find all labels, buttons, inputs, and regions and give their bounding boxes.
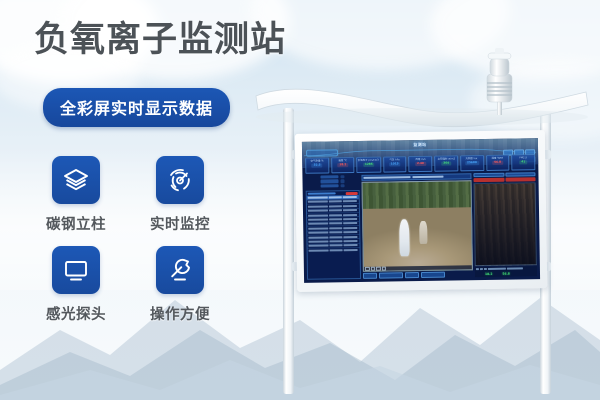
metric-card[interactable]: 光照度 lux 25600: [460, 155, 484, 171]
metric-value: 32.5: [312, 164, 323, 168]
metric-label: 负氧离子 pcs/cm3: [358, 159, 379, 162]
metric-label: 气压 hPa: [390, 158, 400, 161]
feature-item-realtime-monitoring[interactable]: 实时监控: [150, 156, 210, 234]
live-video-feed[interactable]: [362, 180, 473, 272]
outdoor-display: 监测站 空气质量 % 32.5 温度 ℃ 18.2: [295, 130, 547, 292]
monitor-screen-icon: [52, 246, 100, 294]
feature-label: 操作方便: [150, 303, 210, 324]
footer-controls[interactable]: [475, 266, 537, 271]
right-footer: 18.2 56.8: [475, 266, 537, 277]
snapshot-icon[interactable]: [376, 266, 381, 271]
channel-select[interactable]: [379, 272, 403, 278]
feature-item-light-sensor[interactable]: 感光探头: [46, 246, 106, 324]
metric-label: 风速 m/s: [415, 158, 425, 161]
metric-card[interactable]: 气压 hPa 1013: [383, 156, 407, 172]
toolbar-label: [363, 273, 377, 279]
footer-label: [507, 267, 523, 269]
summary-row: [321, 180, 345, 184]
metric-value: 41: [519, 161, 527, 165]
metric-label: 湿度 %RH: [492, 157, 504, 160]
feature-label: 碳钢立柱: [46, 213, 106, 234]
metric-value: 56.8: [492, 161, 503, 165]
tab-records[interactable]: [505, 172, 536, 176]
metric-card-row: 空气质量 % 32.5 温度 ℃ 18.2 负氧离子 pcs/cm3 1286 …: [305, 154, 535, 174]
metric-label: 空气质量 %: [311, 160, 324, 163]
metric-value: 25600: [465, 161, 479, 165]
toolbar-label: [405, 272, 419, 278]
fullscreen-icon[interactable]: [381, 266, 386, 271]
alert-badge[interactable]: [473, 178, 504, 182]
metric-value: 1013: [389, 163, 401, 167]
dashboard-body: 18.2 56.8: [305, 172, 537, 280]
dashboard-screen[interactable]: 监测站 空气质量 % 32.5 温度 ℃ 18.2: [302, 138, 540, 283]
metric-value: 364: [441, 162, 451, 166]
metric-value: 2.40: [415, 162, 426, 166]
video-person: [399, 219, 410, 256]
weather-sensor-icon: [487, 48, 512, 115]
preset-select[interactable]: [421, 272, 445, 278]
radar-monitor-icon: [156, 156, 204, 204]
table-row[interactable]: [308, 247, 360, 252]
wrench-icon: [156, 246, 204, 294]
left-panel: [305, 175, 361, 280]
metric-card[interactable]: PM2.5 41: [511, 154, 535, 170]
metric-card[interactable]: 空气质量 % 32.5: [305, 157, 329, 173]
feature-item-easy-operation[interactable]: 操作方便: [150, 246, 210, 324]
feature-label: 感光探头: [46, 303, 106, 324]
metric-label: 光照度 lux: [466, 157, 478, 160]
metric-card[interactable]: 太阳辐射 w/m2 364: [434, 155, 458, 171]
metric-value: 18.2: [337, 163, 348, 167]
pause-icon[interactable]: [370, 266, 375, 271]
alert-badge[interactable]: [505, 177, 536, 181]
footer-label: [488, 268, 506, 270]
video-treeline: [363, 181, 471, 209]
data-table[interactable]: [306, 190, 361, 280]
prev-icon[interactable]: [476, 268, 479, 270]
right-panel: 18.2 56.8: [473, 172, 537, 277]
layers-icon: [52, 156, 100, 204]
metric-label: 温度 ℃: [339, 159, 348, 162]
tab-alerts[interactable]: [473, 173, 504, 177]
feature-label: 实时监控: [150, 213, 210, 234]
page-title: 负氧离子监测站: [34, 22, 286, 57]
next-icon[interactable]: [480, 268, 483, 270]
video-toolbar: [363, 271, 473, 279]
summary-row: [320, 175, 344, 179]
metric-label: 太阳辐射 w/m2: [437, 158, 455, 161]
secondary-video-feed[interactable]: [474, 182, 537, 266]
feature-grid: 碳钢立柱 实时监控: [46, 156, 236, 336]
metric-label: PM2.5: [519, 156, 527, 159]
summary-row: [321, 184, 345, 188]
metric-value: 1286: [363, 163, 375, 167]
readout-row: 18.2 56.8: [485, 272, 510, 276]
table-export-button[interactable]: [346, 192, 358, 195]
readout-value: 18.2: [485, 272, 492, 276]
grid-icon[interactable]: [484, 268, 487, 270]
readout-value: 56.8: [502, 272, 509, 276]
metric-card[interactable]: 湿度 %RH 56.8: [486, 155, 510, 171]
video-person-secondary: [419, 221, 427, 244]
feature-item-steel-post[interactable]: 碳钢立柱: [46, 156, 106, 234]
metric-card[interactable]: 负氧离子 pcs/cm3 1286: [357, 157, 381, 173]
center-panel: [361, 173, 473, 279]
subtitle-badge: 全彩屏实时显示数据: [43, 88, 230, 127]
metric-card[interactable]: 风速 m/s 2.40: [408, 156, 432, 172]
video-controls[interactable]: [364, 265, 472, 271]
play-icon[interactable]: [365, 267, 370, 272]
promo-banner: 监测站 空气质量 % 32.5 温度 ℃ 18.2: [0, 0, 600, 400]
metric-card[interactable]: 温度 ℃ 18.2: [331, 157, 355, 173]
